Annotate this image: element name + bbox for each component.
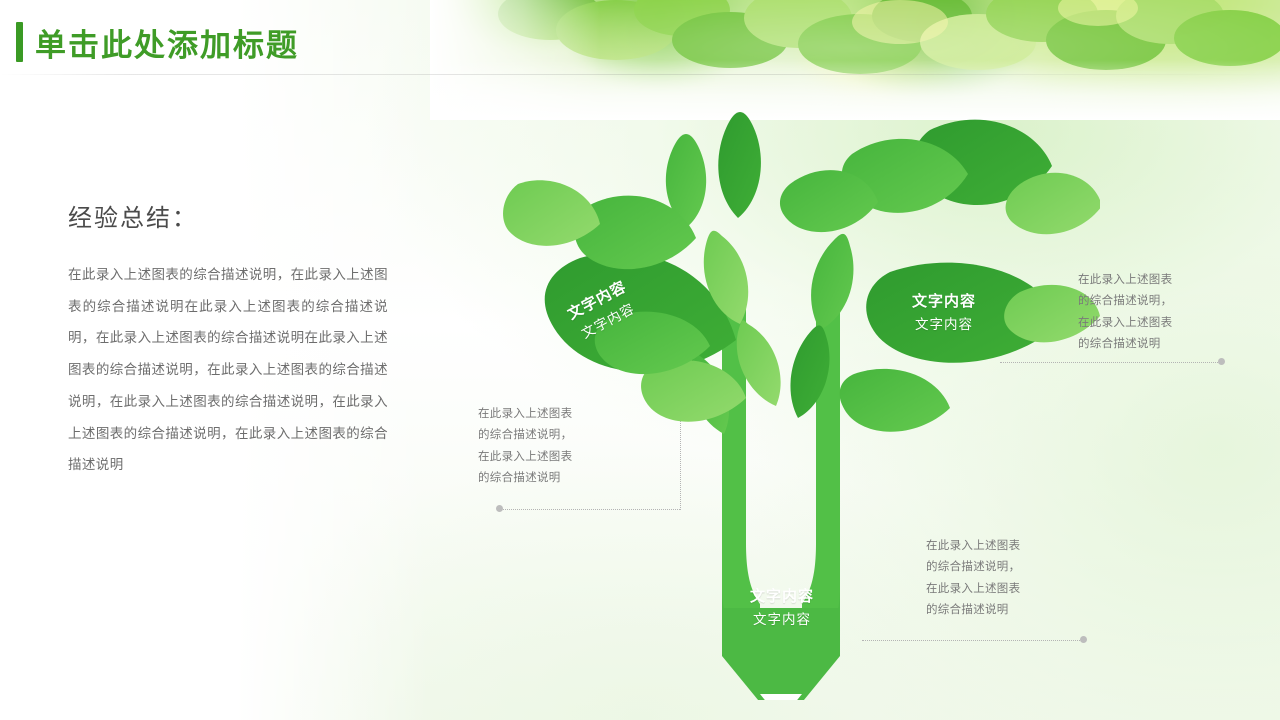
title-accent-bar (16, 22, 23, 62)
connector-dot-right-top (1218, 358, 1225, 365)
summary-body: 在此录入上述图表的综合描述说明，在此录入上述图表的综合描述说明在此录入上述图表的… (68, 259, 388, 481)
callout-right-top-text: 在此录入上述图表 的综合描述说明， 在此录入上述图表 的综合描述说明 (1078, 270, 1268, 355)
slide-title-area: 单击此处添加标题 (0, 14, 299, 70)
leaf-cluster-top (666, 112, 761, 228)
callout-right-bottom-text: 在此录入上述图表 的综合描述说明， 在此录入上述图表 的综合描述说明 (926, 536, 1116, 621)
page-title: 单击此处添加标题 (35, 20, 299, 65)
title-divider (0, 74, 1280, 75)
summary-heading: 经验总结： (68, 198, 388, 233)
leaf-label-right-shape (866, 263, 1100, 363)
slide-canvas: 单击此处添加标题 经验总结： 在此录入上述图表的综合描述说明，在此录入上述图表的… (0, 0, 1280, 720)
callout-left-text: 在此录入上述图表 的综合描述说明， 在此录入上述图表 的综合描述说明 (478, 404, 678, 489)
leaf-cluster-right-top (780, 120, 1100, 235)
summary-panel: 经验总结： 在此录入上述图表的综合描述说明，在此录入上述图表的综合描述说明在此录… (68, 198, 388, 481)
